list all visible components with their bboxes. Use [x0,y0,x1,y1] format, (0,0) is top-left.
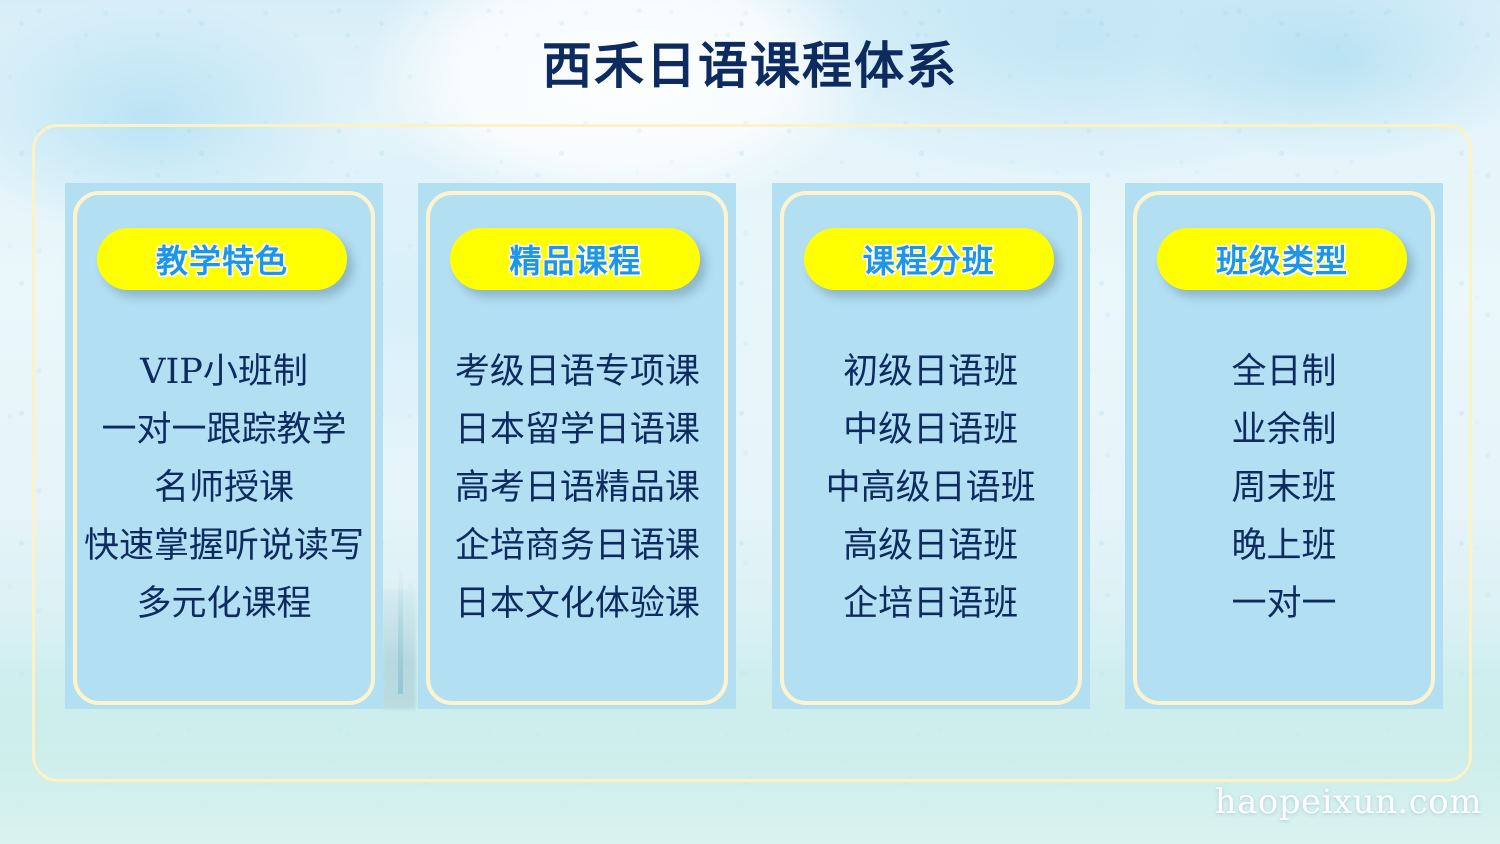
list-item: 一对一跟踪教学 [75,401,373,459]
card-item-list: 全日制 业余制 周末班 晚上班 一对一 [1135,343,1433,633]
course-card-teaching-features[interactable]: 教学特色 VIP小班制 一对一跟踪教学 名师授课 快速掌握听说读写 多元化课程 [65,183,383,709]
card-heading-pill: 精品课程 [450,228,700,290]
list-item: 快速掌握听说读写 [75,517,373,575]
list-item: VIP小班制 [75,343,373,401]
card-item-list: VIP小班制 一对一跟踪教学 名师授课 快速掌握听说读写 多元化课程 [75,343,373,633]
list-item: 高考日语精品课 [428,459,726,517]
list-item: 一对一 [1135,575,1433,633]
card-heading-label: 班级类型 [1216,236,1348,282]
card-heading-label: 精品课程 [509,236,641,282]
course-card-featured-courses[interactable]: 精品课程 考级日语专项课 日本留学日语课 高考日语精品课 企培商务日语课 日本文… [418,183,736,709]
list-item: 高级日语班 [782,517,1080,575]
list-item: 全日制 [1135,343,1433,401]
page-title: 西禾日语课程体系 [0,26,1500,98]
card-heading-pill: 班级类型 [1157,228,1407,290]
list-item: 企培日语班 [782,575,1080,633]
list-item: 企培商务日语课 [428,517,726,575]
list-item: 考级日语专项课 [428,343,726,401]
site-watermark: haopeixun.com [1215,782,1482,822]
list-item: 周末班 [1135,459,1433,517]
card-heading-label: 教学特色 [156,236,288,282]
card-heading-label: 课程分班 [863,236,995,282]
list-item: 中级日语班 [782,401,1080,459]
list-item: 日本文化体验课 [428,575,726,633]
list-item: 名师授课 [75,459,373,517]
card-item-list: 初级日语班 中级日语班 中高级日语班 高级日语班 企培日语班 [782,343,1080,633]
card-heading-pill: 教学特色 [97,228,347,290]
list-item: 中高级日语班 [782,459,1080,517]
slide-canvas: 西禾日语课程体系 教学特色 VIP小班制 一对一跟踪教学 名师授课 快速掌握听说… [0,0,1500,844]
list-item: 业余制 [1135,401,1433,459]
card-heading-pill: 课程分班 [804,228,1054,290]
course-card-class-levels[interactable]: 课程分班 初级日语班 中级日语班 中高级日语班 高级日语班 企培日语班 [772,183,1090,709]
list-item: 多元化课程 [75,575,373,633]
card-item-list: 考级日语专项课 日本留学日语课 高考日语精品课 企培商务日语课 日本文化体验课 [428,343,726,633]
course-card-class-types[interactable]: 班级类型 全日制 业余制 周末班 晚上班 一对一 [1125,183,1443,709]
list-item: 日本留学日语课 [428,401,726,459]
list-item: 晚上班 [1135,517,1433,575]
list-item: 初级日语班 [782,343,1080,401]
course-card-list: 教学特色 VIP小班制 一对一跟踪教学 名师授课 快速掌握听说读写 多元化课程 … [65,183,1443,709]
